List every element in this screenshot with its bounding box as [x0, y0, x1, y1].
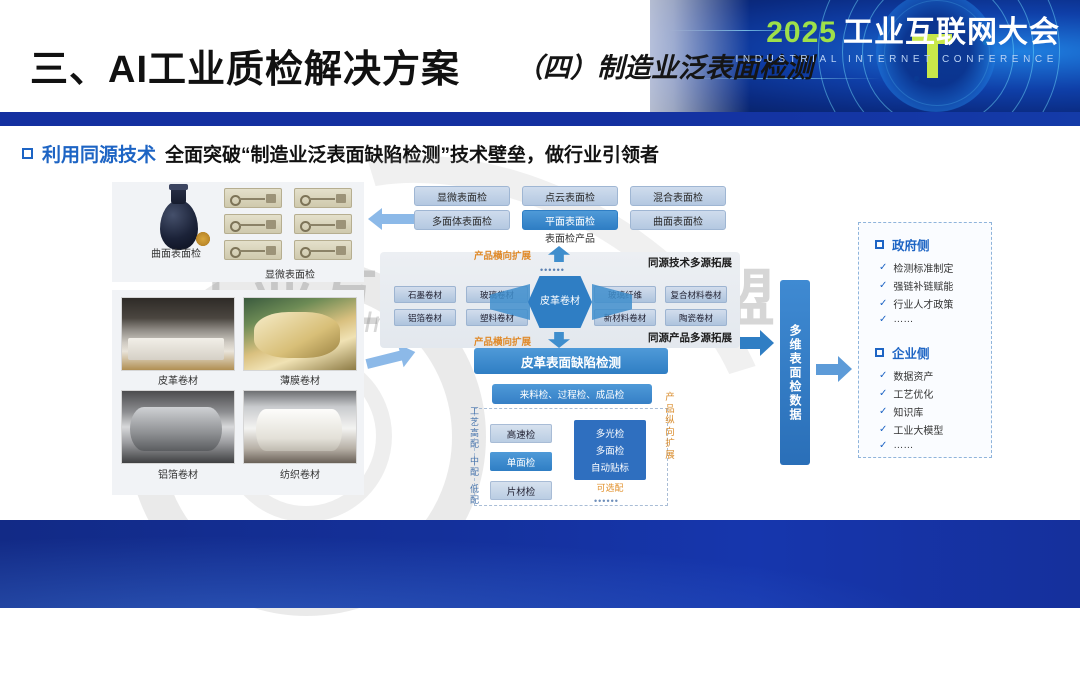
bullet-line: 利用同源技术 全面突破“制造业泛表面缺陷检测”技术壁垒，做行业引领者	[22, 140, 659, 167]
list-item: ✓强链补链赋能	[879, 278, 991, 293]
bottle-sample-image: 曲面表面检	[136, 186, 216, 262]
group-header-government: 政府侧	[875, 235, 991, 254]
config-row-label-mid: 中配	[468, 456, 481, 478]
bullet-rest-text: 全面突破“制造业泛表面缺陷检测”技术壁垒，做行业引领者	[165, 140, 659, 167]
photo-caption: 铝箔卷材	[121, 466, 235, 481]
optional-feature-item: 自动贴标	[591, 460, 629, 474]
group-header-enterprise: 企业侧	[875, 343, 991, 362]
bullet-highlight-text: 利用同源技术	[42, 140, 156, 167]
list-item-label: 检测标准制定	[893, 260, 953, 275]
material-box[interactable]: 石墨卷材	[394, 286, 456, 303]
multi-dimensional-data-bar: 多维表面检数据	[780, 280, 810, 465]
products-caption: 表面检产品	[414, 230, 726, 245]
slide-root: 三、AI工业质检解决方案 （四）制造业泛表面检测 利用同源技术 全面突破“制造业…	[0, 0, 1080, 608]
list-item: ✓……	[879, 440, 991, 451]
list-item-label: 工艺优化	[893, 386, 933, 401]
orange-label-horizontal-top: 产品横向扩展	[474, 248, 531, 262]
photo-caption: 纺织卷材	[243, 466, 357, 481]
material-box[interactable]: 复合材料卷材	[665, 286, 727, 303]
check-icon: ✓	[879, 280, 887, 291]
product-box[interactable]: 多面体表面检	[414, 210, 510, 230]
check-icon: ✓	[879, 440, 887, 451]
logo-chinese-name: 工业互联网大会	[843, 18, 1060, 48]
list-item-label: 数据资产	[893, 368, 933, 383]
sample-images-top-panel: 曲面表面检 显微表面检	[112, 182, 364, 282]
list-item-label: 工业大模型	[893, 422, 943, 437]
chip-thumbnail	[224, 188, 282, 208]
list-item: ✓数据资产	[879, 368, 991, 383]
product-box-selected[interactable]: 平面表面检	[522, 210, 618, 230]
list-item-label: 强链补链赋能	[893, 278, 953, 293]
list-item-label: ……	[893, 314, 913, 325]
chip-thumbnail	[224, 240, 282, 260]
material-photos-panel: 皮革卷材 薄膜卷材 铝箔卷材 纺织卷材	[112, 290, 364, 495]
photo-textile-coil	[243, 390, 357, 464]
product-box[interactable]: 混合表面检	[630, 186, 726, 206]
page-title: 三、AI工业质检解决方案	[30, 38, 460, 93]
chip-thumbnail	[294, 188, 352, 208]
chips-caption: 显微表面检	[224, 266, 356, 281]
square-bullet-icon	[22, 148, 33, 159]
square-bullet-icon	[875, 240, 884, 249]
page-subtitle: （四）制造业泛表面检测	[516, 46, 813, 85]
logo-english-name: INDUSTRIAL INTERNET CONFERENCE	[736, 54, 1058, 65]
list-item-label: 行业人才政策	[893, 296, 953, 311]
slide-footer	[0, 520, 1080, 608]
detection-header[interactable]: 皮革表面缺陷检测	[474, 348, 668, 374]
check-icon: ✓	[879, 298, 887, 309]
leather-detection-group: 皮革表面缺陷检测 来料检、过程检、成品检 工艺 高配 中配 低配 高速检 单面检…	[466, 348, 676, 508]
list-item: ✓工艺优化	[879, 386, 991, 401]
group-title: 政府侧	[892, 235, 930, 254]
photo-caption: 皮革卷材	[121, 372, 235, 387]
bottle-cap	[169, 184, 188, 190]
band-bottom-label: 同源产品多源拓展	[648, 330, 732, 345]
band-dots-top: ••••••	[540, 265, 565, 275]
chip-thumbnail	[224, 214, 282, 234]
arrow-detection-to-data-icon	[740, 330, 774, 356]
list-item: ✓行业人才政策	[879, 296, 991, 311]
material-box[interactable]: 陶瓷卷材	[665, 309, 727, 326]
chip-thumbnail	[294, 214, 352, 234]
check-icon: ✓	[879, 388, 887, 399]
conference-logo: 2025 工业互联网大会	[766, 18, 1060, 48]
chip-sample-images	[224, 188, 356, 262]
check-icon: ✓	[879, 262, 887, 273]
bottle-gold-mark	[196, 232, 210, 246]
material-box[interactable]: 铝箔卷材	[394, 309, 456, 326]
arrow-products-to-samples-icon	[368, 208, 416, 230]
square-bullet-icon	[875, 348, 884, 357]
band-top-label: 同源技术多源拓展	[648, 255, 732, 270]
config-option-box[interactable]: 高速检	[490, 424, 552, 443]
center-leather-coil-node[interactable]: 皮革卷材	[528, 276, 592, 328]
list-item-label: ……	[893, 440, 913, 451]
photo-caption: 薄膜卷材	[243, 372, 357, 387]
stakeholder-panel: 政府侧 ✓检测标准制定 ✓强链补链赋能 ✓行业人才政策 ✓…… 企业侧 ✓数据资…	[858, 222, 992, 458]
header-accent-bar	[0, 112, 1080, 126]
check-icon: ✓	[879, 424, 887, 435]
surface-products-group: 显微表面检 点云表面检 混合表面检 多面体表面检 平面表面检 曲面表面检 表面检…	[414, 186, 726, 244]
optional-feature-item: 多面检	[596, 443, 625, 457]
bottle-caption: 曲面表面检	[136, 245, 216, 260]
product-box[interactable]: 点云表面检	[522, 186, 618, 206]
photo-leather-coil	[121, 297, 235, 371]
orange-label-vertical: 产品纵向扩展	[664, 392, 676, 461]
detection-subheader[interactable]: 来料检、过程检、成品检	[492, 384, 652, 404]
config-row-label-high: 高配	[468, 428, 481, 450]
detection-dots: ••••••	[594, 496, 619, 506]
chip-thumbnail	[294, 240, 352, 260]
config-row-label-craft: 工艺	[468, 406, 481, 428]
config-row-label-low: 低配	[468, 484, 481, 506]
check-icon: ✓	[879, 406, 887, 417]
config-option-box-selected[interactable]: 单面检	[490, 452, 552, 471]
optional-feature-item: 多光检	[596, 426, 625, 440]
orange-label-horizontal-bottom: 产品横向扩展	[474, 334, 531, 348]
list-item: ✓知识库	[879, 404, 991, 419]
optional-caption: 可选配	[574, 481, 646, 494]
arrow-data-to-panel-icon	[816, 356, 852, 382]
list-item: ✓……	[879, 314, 991, 325]
logo-year: 2025	[766, 18, 837, 48]
photo-aluminum-foil-coil	[121, 390, 235, 464]
bottle-shape	[160, 200, 198, 250]
product-box[interactable]: 曲面表面检	[630, 210, 726, 230]
list-item: ✓工业大模型	[879, 422, 991, 437]
check-icon: ✓	[879, 370, 887, 381]
list-item: ✓检测标准制定	[879, 260, 991, 275]
group-title: 企业侧	[892, 343, 930, 362]
photo-film-coil	[243, 297, 357, 371]
check-icon: ✓	[879, 314, 887, 325]
config-option-box[interactable]: 片材检	[490, 481, 552, 500]
product-box[interactable]: 显微表面检	[414, 186, 510, 206]
optional-features-box[interactable]: 多光检 多面检 自动贴标	[574, 420, 646, 480]
list-item-label: 知识库	[893, 404, 923, 419]
